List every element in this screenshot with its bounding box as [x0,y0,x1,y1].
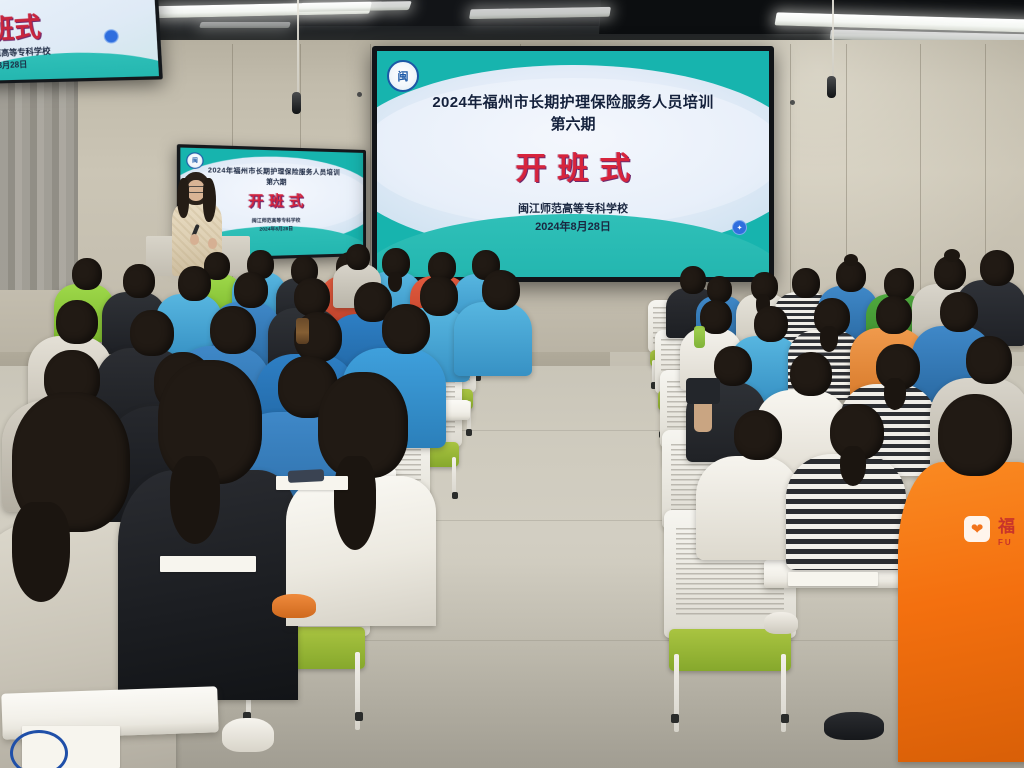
attendee-hair [884,378,906,410]
attendee-head [130,310,174,356]
attendee-head [680,266,706,294]
main-display[interactable]: 闽 2024年福州市长期护理保险服务人员培训 第六期 开班式 闽江师范高等专科学… [372,46,774,282]
chair-foot [355,712,363,721]
water-bottle [296,318,309,344]
volunteer-vest [898,462,1024,762]
attendee-head [210,306,256,354]
handout-paper [160,556,256,572]
attendee-head [382,304,430,354]
attendee-hair-bun [944,249,960,262]
attendee-torso [454,302,532,376]
attendee-head [980,250,1014,286]
attendee-head [482,270,520,310]
chair-seat [669,629,790,670]
attendee-head [56,300,98,344]
overhead-date: 2024年8月28日 [0,59,28,72]
overhead-headline: 开班式 [0,6,42,48]
classroom-photo-scene: 开班式 闽江师范高等专科学校 2024年8月28日 闽 2024年福州市长期护理… [0,0,1024,768]
green-bottle [694,326,705,348]
slide-title: 2024年福州市长期护理保险服务人员培训 [432,93,713,113]
blue-lanyard [10,730,68,768]
attendee-head [938,394,1012,476]
presenter-hair [177,178,189,218]
slide-subtitle: 第六期 [550,113,595,134]
secondary-slide-subtitle: 第六期 [266,177,286,187]
attendee-head [123,264,155,298]
shoe [272,594,316,618]
chair-foot [466,429,472,436]
wall-curtain [0,60,78,290]
attendee-head [420,276,458,316]
volunteer-logo-glyph: ❤ [971,522,984,537]
attendee-hair [820,326,838,352]
attendee-head [734,410,782,460]
main-slide: 闽 2024年福州市长期护理保险服务人员培训 第六期 开班式 闽江师范高等专科学… [377,51,769,277]
hanging-cable [832,0,834,80]
shoe [222,718,274,752]
volunteer-logo-sub: FU [998,538,1013,547]
attendee-head [876,296,912,334]
shorts [686,378,720,404]
attendee-hair [334,456,376,550]
attendee-torso [696,456,800,560]
attendee-head [178,266,211,301]
overhead-display[interactable]: 开班式 闽江师范高等专科学校 2024年8月28日 [0,0,163,84]
volunteer-logo-icon: ❤ [964,516,990,542]
phone [288,469,325,483]
chair-foot [671,714,679,723]
attendee-hair [170,456,220,544]
attendee-head [707,276,732,303]
attendee-head [966,336,1012,384]
presenter-hand [208,238,217,249]
attendee-hair [12,502,70,602]
handout-paper [788,572,878,586]
ceiling-light-fixture [199,22,291,28]
hanging-microphone [827,76,836,98]
attendee-hair [840,446,866,486]
attendee-hair [388,272,402,292]
presenter-hair [203,178,216,222]
slide-badge-icon: ✦ [732,220,747,235]
attendee-head [294,278,330,316]
chair-foot [781,714,789,723]
secondary-slide-headline: 开班式 [243,191,309,212]
chair-foot [452,492,458,499]
presenter-hand [190,234,199,245]
secondary-slide-org: 闽江师范高等专科学校 [252,218,301,226]
attendee-head [754,306,788,342]
attendee-head [72,258,102,290]
main-slide-content: 2024年福州市长期护理保险服务人员培训 第六期 开班式 闽江师范高等专科学校 … [377,51,769,277]
attendee-head [346,244,370,270]
hanging-microphone [292,92,301,114]
attendee-head [234,272,268,308]
shoe [824,712,884,740]
attendee-head [884,268,914,300]
slide-headline: 开班式 [505,143,642,188]
shoe [764,612,798,634]
wall-fixture-dot [790,100,795,105]
slide-badge-glyph: ✦ [737,224,743,232]
attendee-hair-bun [844,254,858,266]
secondary-slide-date: 2024年8月28日 [259,226,293,234]
volunteer-logo-char: 福 [998,518,1015,535]
attendee-head [790,352,832,396]
slide-date: 2024年8月28日 [535,220,611,236]
attendee-head [792,268,820,298]
attendee-head [940,292,978,332]
hanging-cable [297,0,299,96]
wall-fixture-dot [357,92,362,97]
slide-org: 闽江师范高等专科学校 [518,202,628,218]
